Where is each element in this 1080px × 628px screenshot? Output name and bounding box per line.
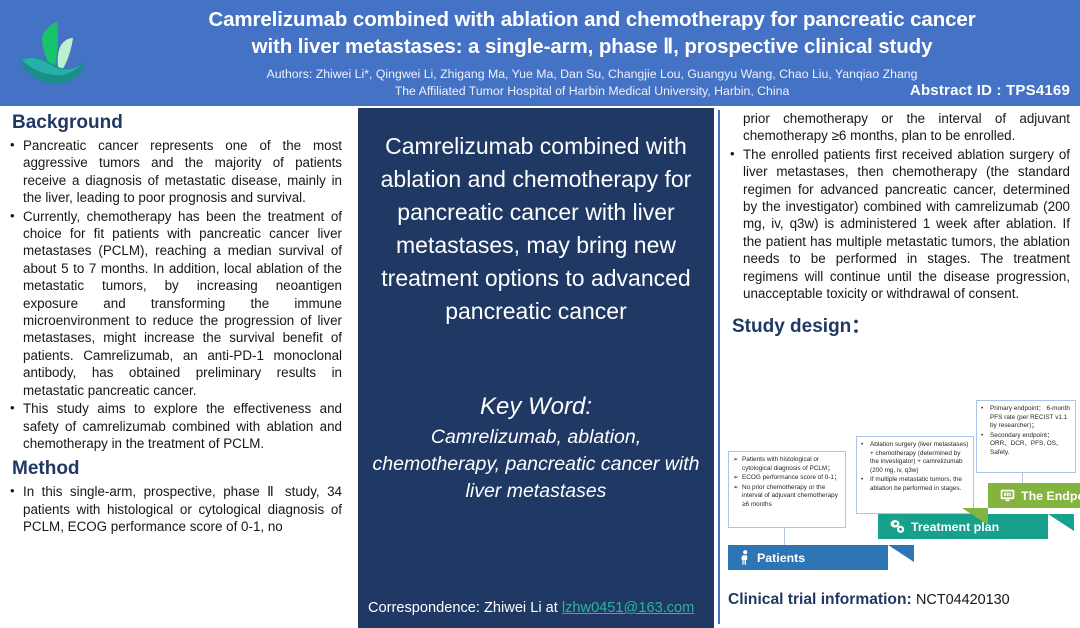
monitor-icon	[1000, 489, 1015, 502]
method-heading: Method	[12, 458, 342, 480]
correspondence-prefix: Correspondence: Zhiwei Li at	[368, 600, 562, 616]
treatment-item-text: Ablation surgery (liver metastases) + ch…	[870, 441, 968, 474]
endpoint-item: •Secondary endpoint： ORR、DCR、PFS, OS、Saf…	[981, 432, 1071, 458]
chevron-treatment-arrow	[1048, 514, 1074, 531]
treatment-item-marker: •	[861, 476, 863, 485]
correspondence: Correspondence: Zhiwei Li at lzhw0451@16…	[368, 598, 704, 618]
endpoints-box: •Primary endpoint： 6-month PFS rate (per…	[976, 400, 1076, 473]
endpoint-item-text: Secondary endpoint： ORR、DCR、PFS, OS、Safe…	[990, 432, 1062, 456]
endpoint-item-marker: •	[981, 405, 983, 414]
chevron-patients-arrow	[888, 545, 914, 562]
sailboat-leaf-logo	[12, 14, 98, 94]
background-bullet: Currently, chemotherapy has been the tre…	[8, 208, 342, 399]
clinical-trial-information: Clinical trial information: NCT04420130	[728, 590, 1078, 610]
chevron-patients-label: Patients	[757, 551, 805, 565]
person-icon	[740, 550, 751, 565]
author-list: Authors: Zhiwei Li*, Qingwei Li, Zhigang…	[120, 66, 1064, 82]
background-heading: Background	[12, 112, 342, 134]
abstract-id-badge: Abstract ID : TPS4169	[910, 82, 1070, 99]
left-column: Background Pancreatic cancer represents …	[0, 106, 352, 628]
right-bullet: The enrolled patients first received abl…	[728, 146, 1070, 303]
study-design-diagram: ➢Patients with histological or cytologic…	[722, 400, 1080, 582]
poster-title-line2: with liver metastases: a single-arm, pha…	[120, 33, 1064, 60]
gears-icon	[890, 519, 905, 534]
background-bullet: This study aims to explore the effective…	[8, 400, 342, 452]
treatment-item: •Ablation surgery (liver metastases) + c…	[861, 441, 969, 475]
method-bullet-list: In this single-arm, prospective, phase Ⅱ…	[8, 483, 342, 535]
chevron-endpoint-arrow	[962, 508, 988, 525]
column-divider	[718, 110, 720, 624]
background-bullet-list: Pancreatic cancer represents one of the …	[8, 137, 342, 452]
method-bullet: In this single-arm, prospective, phase Ⅱ…	[8, 483, 342, 535]
right-bullet-list: The enrolled patients first received abl…	[728, 146, 1070, 303]
trial-info-value: NCT04420130	[916, 592, 1010, 608]
endpoint-item: •Primary endpoint： 6-month PFS rate (per…	[981, 405, 1071, 431]
endpoint-item-marker: •	[981, 432, 983, 441]
treatment-item: •If multiple metastatic tumors, the abla…	[861, 476, 969, 493]
chevron-patients: Patients	[728, 545, 888, 570]
method-continuation: prior chemotherapy or the interval of ad…	[728, 110, 1070, 145]
eligibility-item-text: ECOG performance score of 0-1；	[742, 474, 840, 481]
poster-title: Camrelizumab combined with ablation and …	[120, 6, 1064, 60]
eligibility-item-text: Patients with histological or cytologica…	[742, 456, 834, 472]
eligibility-item-text: No prior chemotherapy or the interval of…	[742, 484, 838, 508]
chevron-endpoint: The Endpoint	[988, 483, 1080, 508]
treatment-item-text: If multiple metastatic tumors, the ablat…	[870, 476, 962, 492]
eligibility-item-marker: ➢	[733, 456, 738, 465]
keyword-block: Key Word: Camrelizumab, ablation, chemot…	[368, 392, 704, 505]
background-bullet: Pancreatic cancer represents one of the …	[8, 137, 342, 207]
chevron-endpoint-label: The Endpoint	[1021, 489, 1080, 503]
eligibility-item: ➢Patients with histological or cytologic…	[733, 456, 841, 473]
treatment-regimen-box: •Ablation surgery (liver metastases) + c…	[856, 436, 974, 514]
eligibility-item: ➢No prior chemotherapy or the interval o…	[733, 484, 841, 510]
poster-header: Camrelizumab combined with ablation and …	[0, 0, 1080, 106]
trial-info-label: Clinical trial information:	[728, 591, 912, 608]
key-statement: Camrelizumab combined with ablation and …	[368, 130, 704, 328]
poster-root: Camrelizumab combined with ablation and …	[0, 0, 1080, 628]
right-text-block: prior chemotherapy or the interval of ad…	[728, 110, 1070, 302]
correspondence-email-link[interactable]: lzhw0451@163.com	[562, 600, 694, 616]
eligibility-criteria-box: ➢Patients with histological or cytologic…	[728, 451, 846, 528]
eligibility-item-marker: ➢	[733, 484, 738, 493]
keyword-title: Key Word:	[368, 392, 704, 422]
treatment-item-marker: •	[861, 441, 863, 450]
study-design-heading: Study design：	[732, 311, 1070, 338]
endpoint-item-text: Primary endpoint： 6-month PFS rate (per …	[990, 405, 1070, 429]
keyword-body: Camrelizumab, ablation, chemotherapy, pa…	[368, 424, 704, 505]
eligibility-item-marker: ➢	[733, 474, 738, 483]
eligibility-item: ➢ECOG performance score of 0-1；	[733, 474, 841, 483]
poster-title-line1: Camrelizumab combined with ablation and …	[120, 6, 1064, 33]
center-statement-panel: Camrelizumab combined with ablation and …	[358, 108, 714, 628]
